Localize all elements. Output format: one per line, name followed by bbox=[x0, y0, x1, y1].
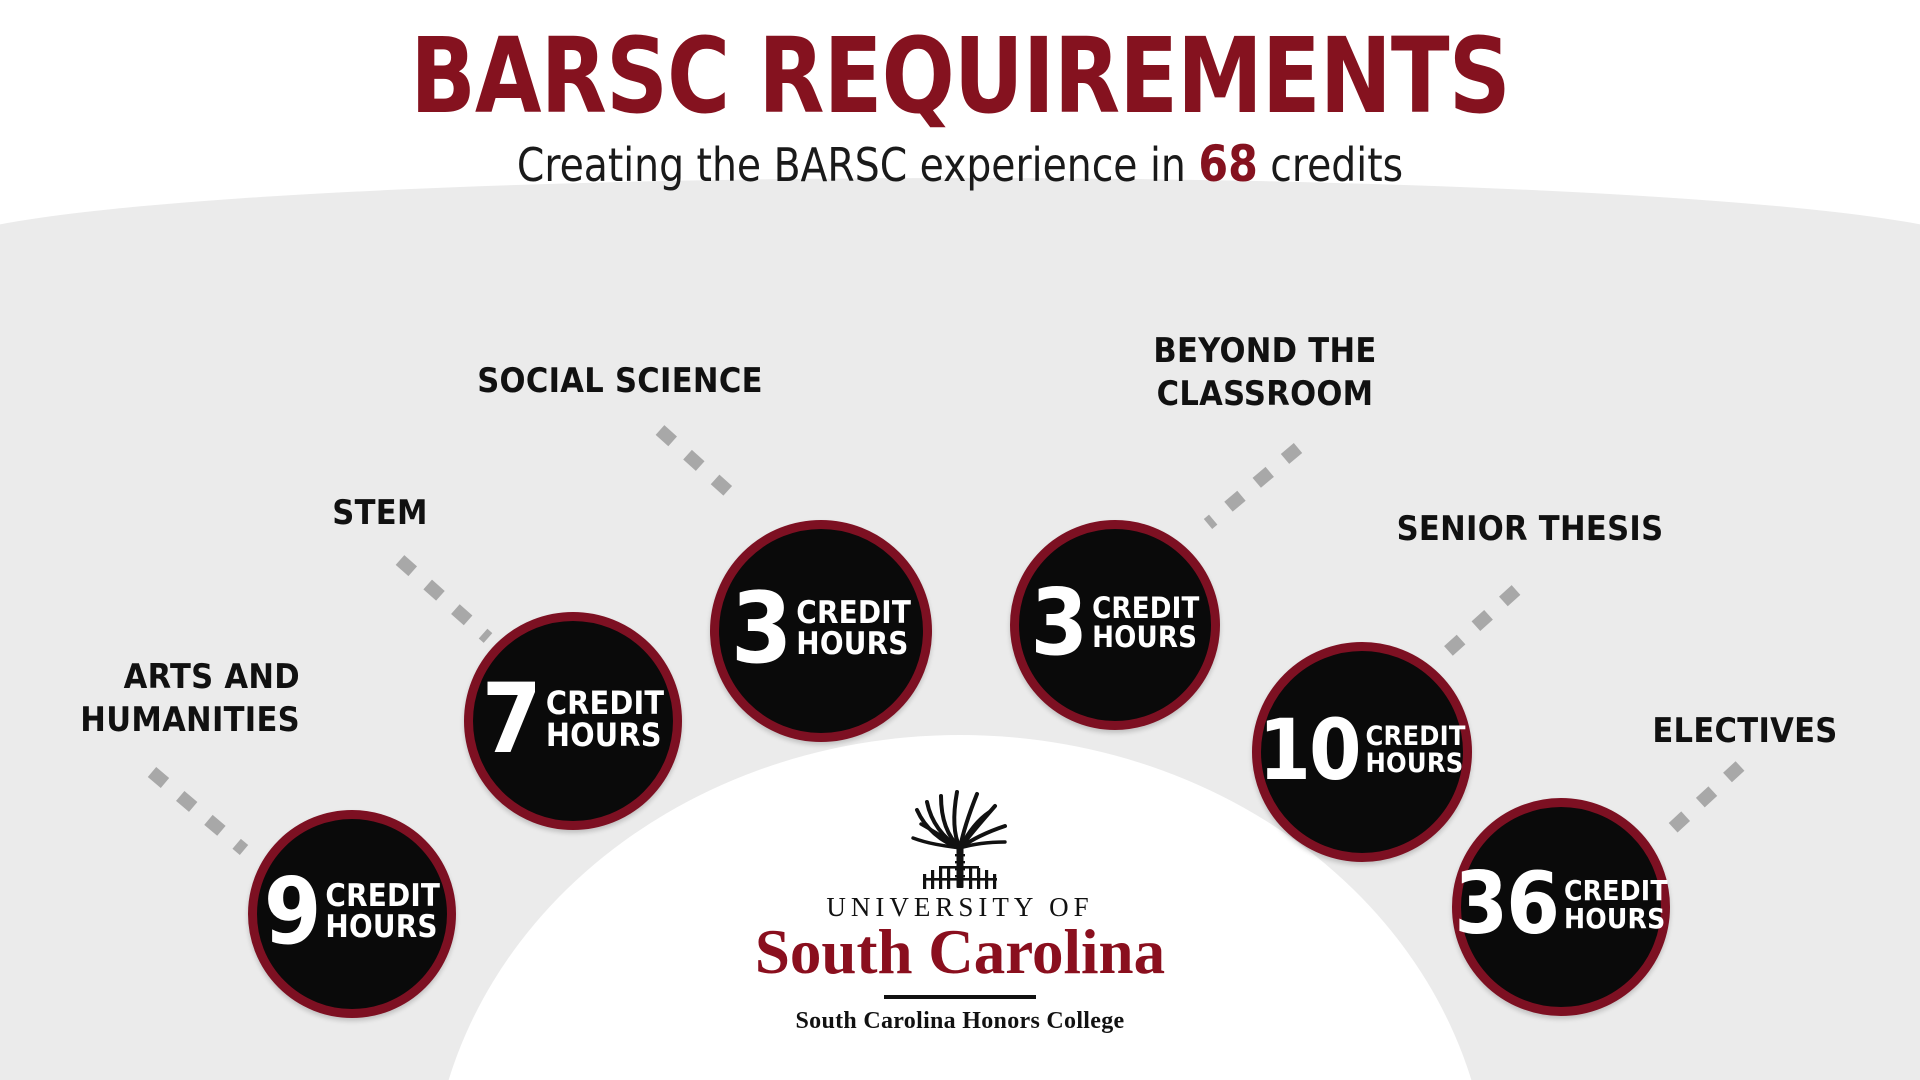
credit-circle-social-science[interactable]: 3 CREDIT HOURS bbox=[710, 520, 932, 742]
credit-unit-line2: HOURS bbox=[325, 909, 437, 945]
header: BARSC REQUIREMENTS Creating the BARSC ex… bbox=[0, 0, 1920, 192]
node-label-electives: ELECTIVES bbox=[1600, 710, 1890, 753]
subtitle-text-after: credits bbox=[1258, 138, 1403, 192]
connector-beyond-the-classroom bbox=[1208, 448, 1298, 524]
subtitle-credit-total: 68 bbox=[1198, 135, 1257, 193]
credit-circle-electives[interactable]: 36 CREDIT HOURS bbox=[1452, 798, 1670, 1016]
credit-unit-line2: HOURS bbox=[1564, 902, 1666, 935]
page-subtitle: Creating the BARSC experience in 68 cred… bbox=[48, 137, 1872, 192]
connector-stem bbox=[400, 560, 488, 638]
credit-value-electives: 36 bbox=[1454, 868, 1558, 942]
credit-unit-line2: HOURS bbox=[546, 716, 662, 754]
node-label-senior-thesis: SENIOR THESIS bbox=[1360, 508, 1700, 551]
node-label-social-science: SOCIAL SCIENCE bbox=[450, 360, 790, 403]
logo-divider-rule bbox=[884, 995, 1036, 999]
logo-state-name: South Carolina bbox=[750, 921, 1170, 984]
logo-college-name: South Carolina Honors College bbox=[750, 1008, 1170, 1035]
node-label-stem: STEM bbox=[290, 492, 470, 535]
connector-arts-and-humanities bbox=[152, 772, 244, 850]
infographic-canvas: BARSC REQUIREMENTS Creating the BARSC ex… bbox=[0, 0, 1920, 1080]
connector-senior-thesis bbox=[1434, 590, 1516, 664]
usc-honors-college-logo: UNIVERSITY OF South Carolina South Carol… bbox=[750, 782, 1170, 1035]
page-title: BARSC REQUIREMENTS bbox=[77, 22, 1843, 131]
node-label-beyond-the-classroom: BEYOND THE CLASSROOM bbox=[1100, 330, 1430, 415]
credit-unit-line2: HOURS bbox=[1092, 620, 1197, 654]
credit-circle-beyond-the-classroom[interactable]: 3 CREDIT HOURS bbox=[1010, 520, 1220, 730]
credit-value-senior-thesis: 10 bbox=[1258, 714, 1359, 786]
connector-social-science bbox=[660, 430, 738, 500]
credit-value-social-science: 3 bbox=[731, 587, 790, 671]
node-label-arts-and-humanities: ARTS AND HUMANITIES bbox=[20, 656, 300, 741]
credit-value-arts-and-humanities: 9 bbox=[264, 872, 320, 951]
credit-unit-line2: HOURS bbox=[1366, 748, 1464, 779]
credit-value-stem: 7 bbox=[482, 678, 540, 761]
credit-unit-line2: HOURS bbox=[796, 626, 908, 662]
credit-value-beyond-the-classroom: 3 bbox=[1030, 583, 1086, 662]
subtitle-text-before: Creating the BARSC experience in bbox=[517, 138, 1198, 192]
credit-circle-stem[interactable]: 7 CREDIT HOURS bbox=[464, 612, 682, 830]
credit-circle-arts-and-humanities[interactable]: 9 CREDIT HOURS bbox=[248, 810, 456, 1018]
palmetto-tree-icon bbox=[901, 782, 1019, 890]
credit-circle-senior-thesis[interactable]: 10 CREDIT HOURS bbox=[1252, 642, 1472, 862]
connector-electives bbox=[1662, 766, 1740, 838]
